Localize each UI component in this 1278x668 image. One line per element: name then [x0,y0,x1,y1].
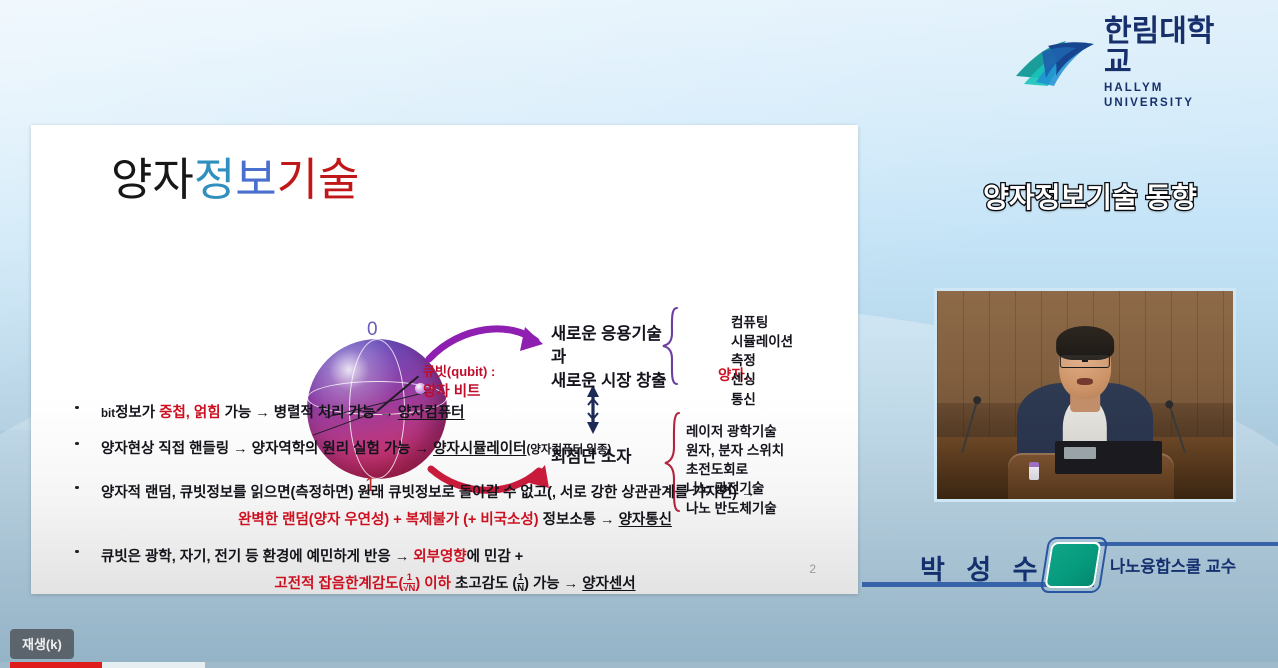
logo-text: 한림대학교 HALLYM UNIVERSITY [1104,16,1228,111]
bullet-dot-icon [75,442,79,446]
slide-title-part-1: 양자 [111,155,194,205]
video-player-stage: 한림대학교 HALLYM UNIVERSITY 양자정보기술 0 1 큐빗(qu… [0,0,1278,668]
device-item: 원자, 분자 스위치 [686,443,784,458]
bullet-4-highlight: 외부영향 [413,549,466,565]
logo-english-name: HALLYM UNIVERSITY [1104,81,1228,111]
bullet-item-4: 큐빗은 광학, 자기, 전기 등 환경에 예민하게 반응 → 외부영향에 민감 … [75,545,835,594]
slide-title-part-3: 보 [235,155,276,205]
bullet-4-b: 에 민감 + [467,549,524,565]
application-item: 통신 [731,392,756,407]
name-underline-right [1098,542,1278,546]
bullet-2-a: 양자현상 직접 핸들링 → 양자역학의 원리 실험 가능 → [101,441,433,457]
water-bottle [1029,462,1039,481]
application-item: 시뮬레이션 [731,334,793,349]
speaker-video[interactable] [934,288,1236,502]
application-item: 센싱 [731,372,756,387]
sphere-label-zero: 0 [367,319,378,341]
bullet-1-underline: 양자컴퓨터 [398,405,465,421]
bullet-text-2: 양자현상 직접 핸들링 → 양자역학의 원리 실험 가능 → 양자시뮬레이터(양… [101,437,611,458]
fraction-one-over-sqrt-n: 1√N [403,573,415,594]
speaker-name-bar: 박 성 수 나노융합스쿨 교수 [862,534,1278,602]
qubit-callout-line-1: 큐빗(qubit) : [423,364,495,379]
bullet-4-black-b: ) 가능 → [524,576,582,592]
laptop-screen [1064,447,1096,459]
bullet-text-3: 양자적 랜덤, 큐빗정보를 읽으면(측정하면) 원래 큐빗정보로 돌아갈 수 없… [101,481,756,502]
wave-logo-icon [1012,32,1098,94]
diagram-applications-list: 컴퓨팅 시뮬레이션 측정 센싱 통신 [731,313,793,409]
bullet-1-b: 가능 → 병렬적 처리 가능 → [221,405,398,421]
speaker-glasses-icon [1060,354,1110,368]
panel-title: 양자정보기술 동향 [930,176,1250,216]
application-item: 컴퓨팅 [731,315,768,330]
bullet-4-red-a: 고전적 잡음한계감도( [274,576,403,592]
speaker-name: 박 성 수 [920,548,1045,587]
bullet-item-1: bit정보가 중첩, 얽힘 가능 → 병렬적 처리 가능 → 양자컴퓨터 [75,401,465,422]
speaker-role: 나노융합스쿨 교수 [1110,553,1236,577]
qubit-callout-label: 큐빗(qubit) : 양자 비트 [423,363,495,402]
bullet-3-underline: 양자통신 [619,512,672,528]
presentation-slide: 양자정보기술 0 1 큐빗(qubit) : 양자 비트 [31,125,858,594]
bullet-4-black-a: 초고감도 ( [451,576,517,592]
fraction-numerator: 1 [403,573,415,583]
logo-korean-name: 한림대학교 [1104,16,1228,79]
bullet-3-red: 완벽한 랜덤(양자 우연성) + 복제불가 (+ 비국소성) [238,512,539,528]
speaker-mouth [1077,378,1093,385]
slide-page-number: 2 [809,562,816,576]
play-button-tooltip[interactable]: 재생(k) [10,629,74,659]
bullet-text-4: 큐빗은 광학, 자기, 전기 등 환경에 예민하게 반응 → 외부영향에 민감 … [101,545,523,566]
bullet-item-2: 양자현상 직접 핸들링 → 양자역학의 원리 실험 가능 → 양자시뮬레이터(양… [75,437,611,458]
laptop [1055,441,1162,474]
bullet-1-highlight: 중첩, 얽힘 [159,405,220,421]
diagram-new-tech-text: 새로운 응용기술과새로운 시장 창출 [551,323,666,393]
fraction-denominator: √N [403,583,415,594]
qubit-callout-line-2: 양자 비트 [423,384,480,400]
bullet-dot-icon [75,406,79,410]
video-progress-bar[interactable] [0,662,1278,668]
bullet-1-latin: bit [101,408,115,420]
progress-played [10,662,102,668]
fraction-numerator: 1 [517,573,524,583]
speaker-badge-icon [1044,542,1101,588]
fraction-one-over-n: 1N [517,573,524,594]
slide-title: 양자정보기술 [111,143,359,208]
bullet-4-red-b: ) 이하 [415,576,451,592]
bullet-item-3: 양자적 랜덤, 큐빗정보를 읽으면(측정하면) 원래 큐빗정보로 돌아갈 수 없… [75,481,835,529]
bullet-4-a: 큐빗은 광학, 자기, 전기 등 환경에 예민하게 반응 → [101,549,413,565]
bullet-1-a: 정보가 [115,405,159,421]
bullet-3-subline: 완벽한 랜덤(양자 우연성) + 복제불가 (+ 비국소성) 정보소통 → 양자… [75,508,835,529]
university-logo: 한림대학교 HALLYM UNIVERSITY [1012,28,1228,98]
bullet-4-underline: 양자센서 [582,576,635,592]
slide-title-part-4: 기술 [277,155,360,205]
fraction-denominator: N [517,583,524,594]
device-item: 레이저 광학기술 [686,424,777,439]
application-item: 측정 [731,353,756,368]
slide-title-part-2: 정 [194,155,235,205]
bullet-dot-icon [75,486,79,490]
bullet-2-tail: (양자컴퓨터 일종) [526,444,611,456]
bullet-4-subline: 고전적 잡음한계감도(1√N) 이하 초고감도 (1N) 가능 → 양자센서 [75,572,835,594]
bullet-text-1: bit정보가 중첩, 얽힘 가능 → 병렬적 처리 가능 → 양자컴퓨터 [101,401,465,422]
device-item: 초전도회로 [686,462,748,477]
bullet-3-black: 정보소통 → [539,512,619,528]
bullet-2-underline: 양자시뮬레이터 [433,441,526,457]
bullet-dot-icon [75,550,79,554]
